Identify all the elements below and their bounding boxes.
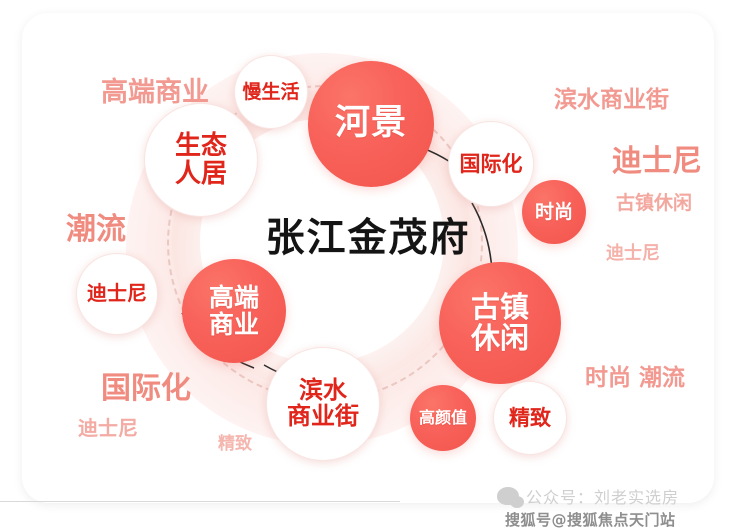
- keyword-disney-large: 迪士尼: [612, 136, 702, 180]
- card-inner: 河景 古镇 休闲 高端 商业 生态 人居: [22, 13, 714, 503]
- content-card: 河景 古镇 休闲 高端 商业 生态 人居: [22, 13, 714, 503]
- bubble-riverview[interactable]: 河景: [308, 61, 434, 187]
- bubble-highend-commerce[interactable]: 高端 商业: [182, 259, 286, 363]
- line-1: 生态: [175, 131, 227, 161]
- keyword-internationalization: 国际化: [101, 363, 191, 407]
- bubble-ancient-town-leisure-label: 古镇 休闲: [439, 292, 561, 355]
- keyword-ancient-town-leisure: 古镇休闲: [616, 188, 692, 215]
- keyword-highend-commerce: 高端商业: [101, 70, 209, 109]
- bubble-disney-label: 迪士尼: [77, 283, 157, 305]
- bubble-highend-commerce-label: 高端 商业: [182, 284, 286, 338]
- line-1: 古镇: [471, 290, 529, 324]
- keyword-fashion-trend: 时尚 潮流: [585, 358, 685, 392]
- bubble-fashion-label: 时尚: [522, 202, 586, 223]
- bubble-eco-living-label: 生态 人居: [145, 132, 257, 188]
- keyword-waterfront-street: 滨水商业街: [554, 80, 669, 114]
- bubble-exquisite[interactable]: 精致: [493, 381, 567, 455]
- bubble-exquisite-label: 精致: [494, 407, 566, 430]
- line-2: 休闲: [471, 321, 529, 355]
- wechat-watermark-text: 公众号：刘老实选房: [526, 484, 679, 508]
- bubble-slow-life-label: 慢生活: [235, 82, 307, 103]
- bubble-high-aesthetics[interactable]: 高颜值: [410, 385, 476, 451]
- keyword-disney-small: 迪士尼: [78, 412, 138, 441]
- center-project-title: 张江金茂府: [238, 207, 498, 263]
- line-1: 滨水: [299, 376, 347, 404]
- line-2: 商业街: [287, 402, 359, 430]
- keyword-trend: 潮流: [66, 204, 126, 248]
- line-2: 商业: [209, 310, 259, 339]
- bubble-riverview-label: 河景: [308, 105, 434, 143]
- bubble-ancient-town-leisure[interactable]: 古镇 休闲: [439, 262, 561, 384]
- wechat-icon: [497, 487, 519, 505]
- bubble-waterfront-street-label: 滨水 商业街: [267, 378, 379, 430]
- bubble-internationalization-label: 国际化: [449, 153, 533, 176]
- bubble-high-aesthetics-label: 高颜值: [410, 409, 476, 426]
- watermark-divider-line: [0, 501, 400, 502]
- bubble-eco-living[interactable]: 生态 人居: [144, 103, 258, 217]
- bubble-slow-life[interactable]: 慢生活: [234, 55, 308, 129]
- bubble-waterfront-street[interactable]: 滨水 商业街: [266, 347, 380, 461]
- infographic-canvas: 河景 古镇 休闲 高端 商业 生态 人居: [0, 0, 740, 532]
- bubble-fashion[interactable]: 时尚: [522, 180, 586, 244]
- wechat-watermark: 公众号：刘老实选房: [497, 484, 679, 508]
- sohu-watermark: 搜狐号@搜狐焦点天门站: [505, 509, 676, 530]
- line-1: 高端: [209, 283, 259, 312]
- bubble-internationalization[interactable]: 国际化: [448, 121, 534, 207]
- bubble-disney[interactable]: 迪士尼: [76, 253, 158, 335]
- keyword-exquisite-small: 精致: [218, 429, 252, 454]
- line-2: 人居: [175, 159, 227, 189]
- keyword-disney-right: 迪士尼: [606, 239, 660, 265]
